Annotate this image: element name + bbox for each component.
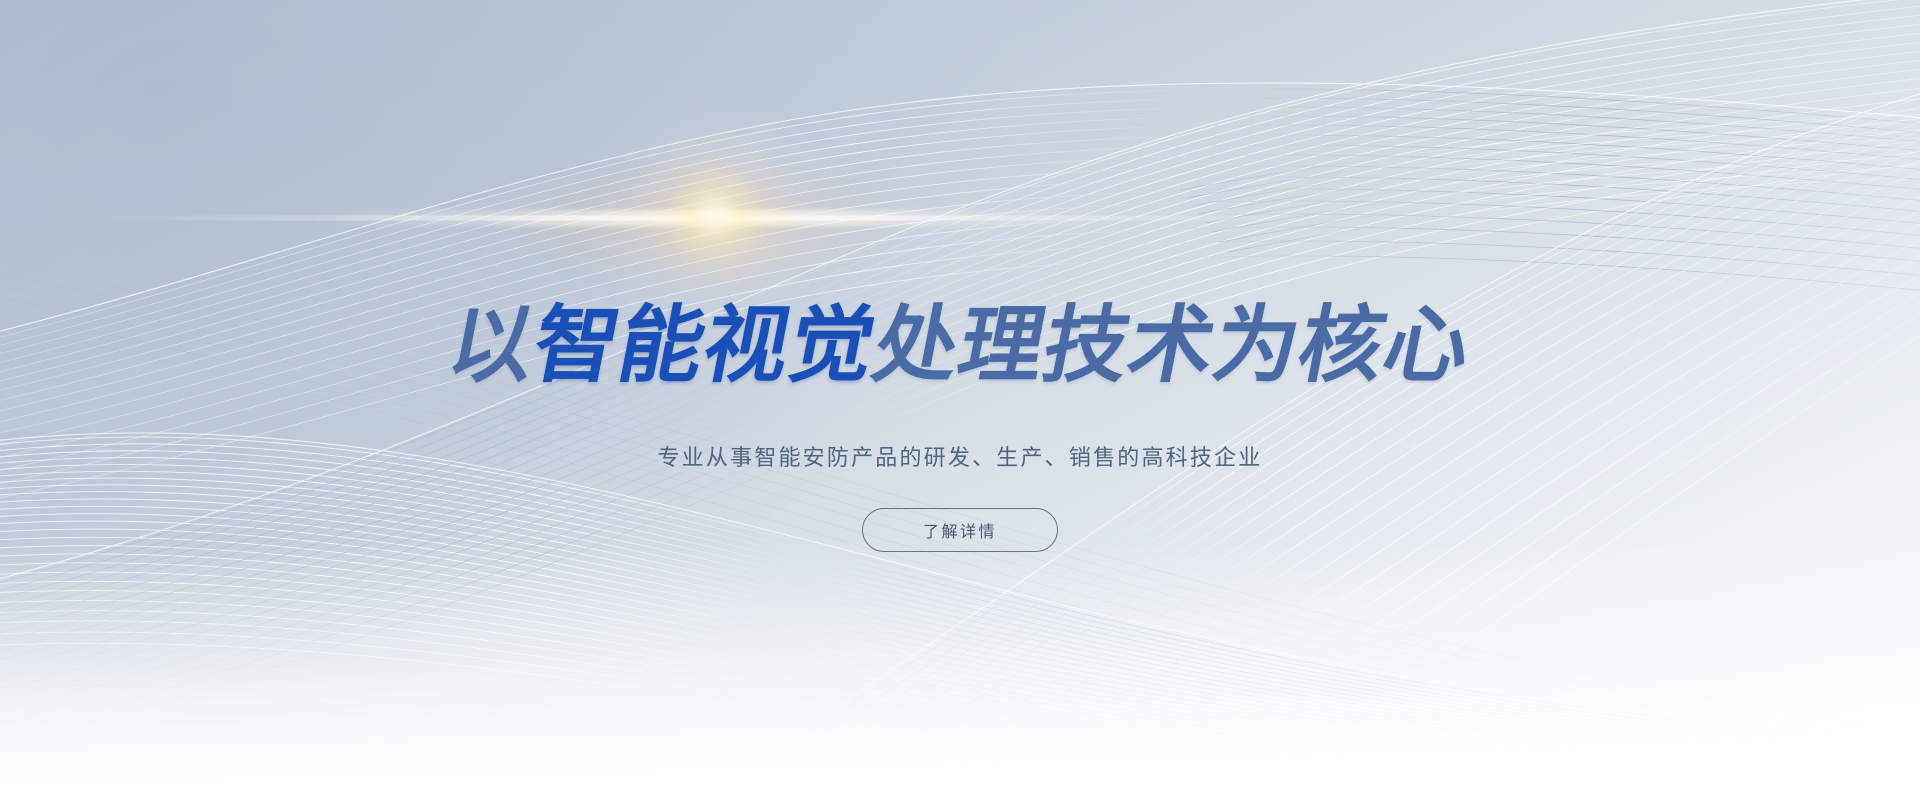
hero-content: 以智能视觉处理技术为核心 专业从事智能安防产品的研发、生产、销售的高科技企业 了…	[0, 0, 1920, 800]
headline-segment-3: 处理技术为核心	[865, 296, 1479, 394]
hero-subtitle: 专业从事智能安防产品的研发、生产、销售的高科技企业	[0, 440, 1920, 472]
hero-headline: 以智能视觉处理技术为核心	[0, 301, 1920, 389]
hero-banner: 以智能视觉处理技术为核心 专业从事智能安防产品的研发、生产、销售的高科技企业 了…	[0, 0, 1920, 800]
headline-segment-2: 智能视觉	[525, 296, 884, 394]
learn-more-button[interactable]: 了解详情	[862, 508, 1058, 552]
hero-cta-container: 了解详情	[0, 508, 1920, 552]
